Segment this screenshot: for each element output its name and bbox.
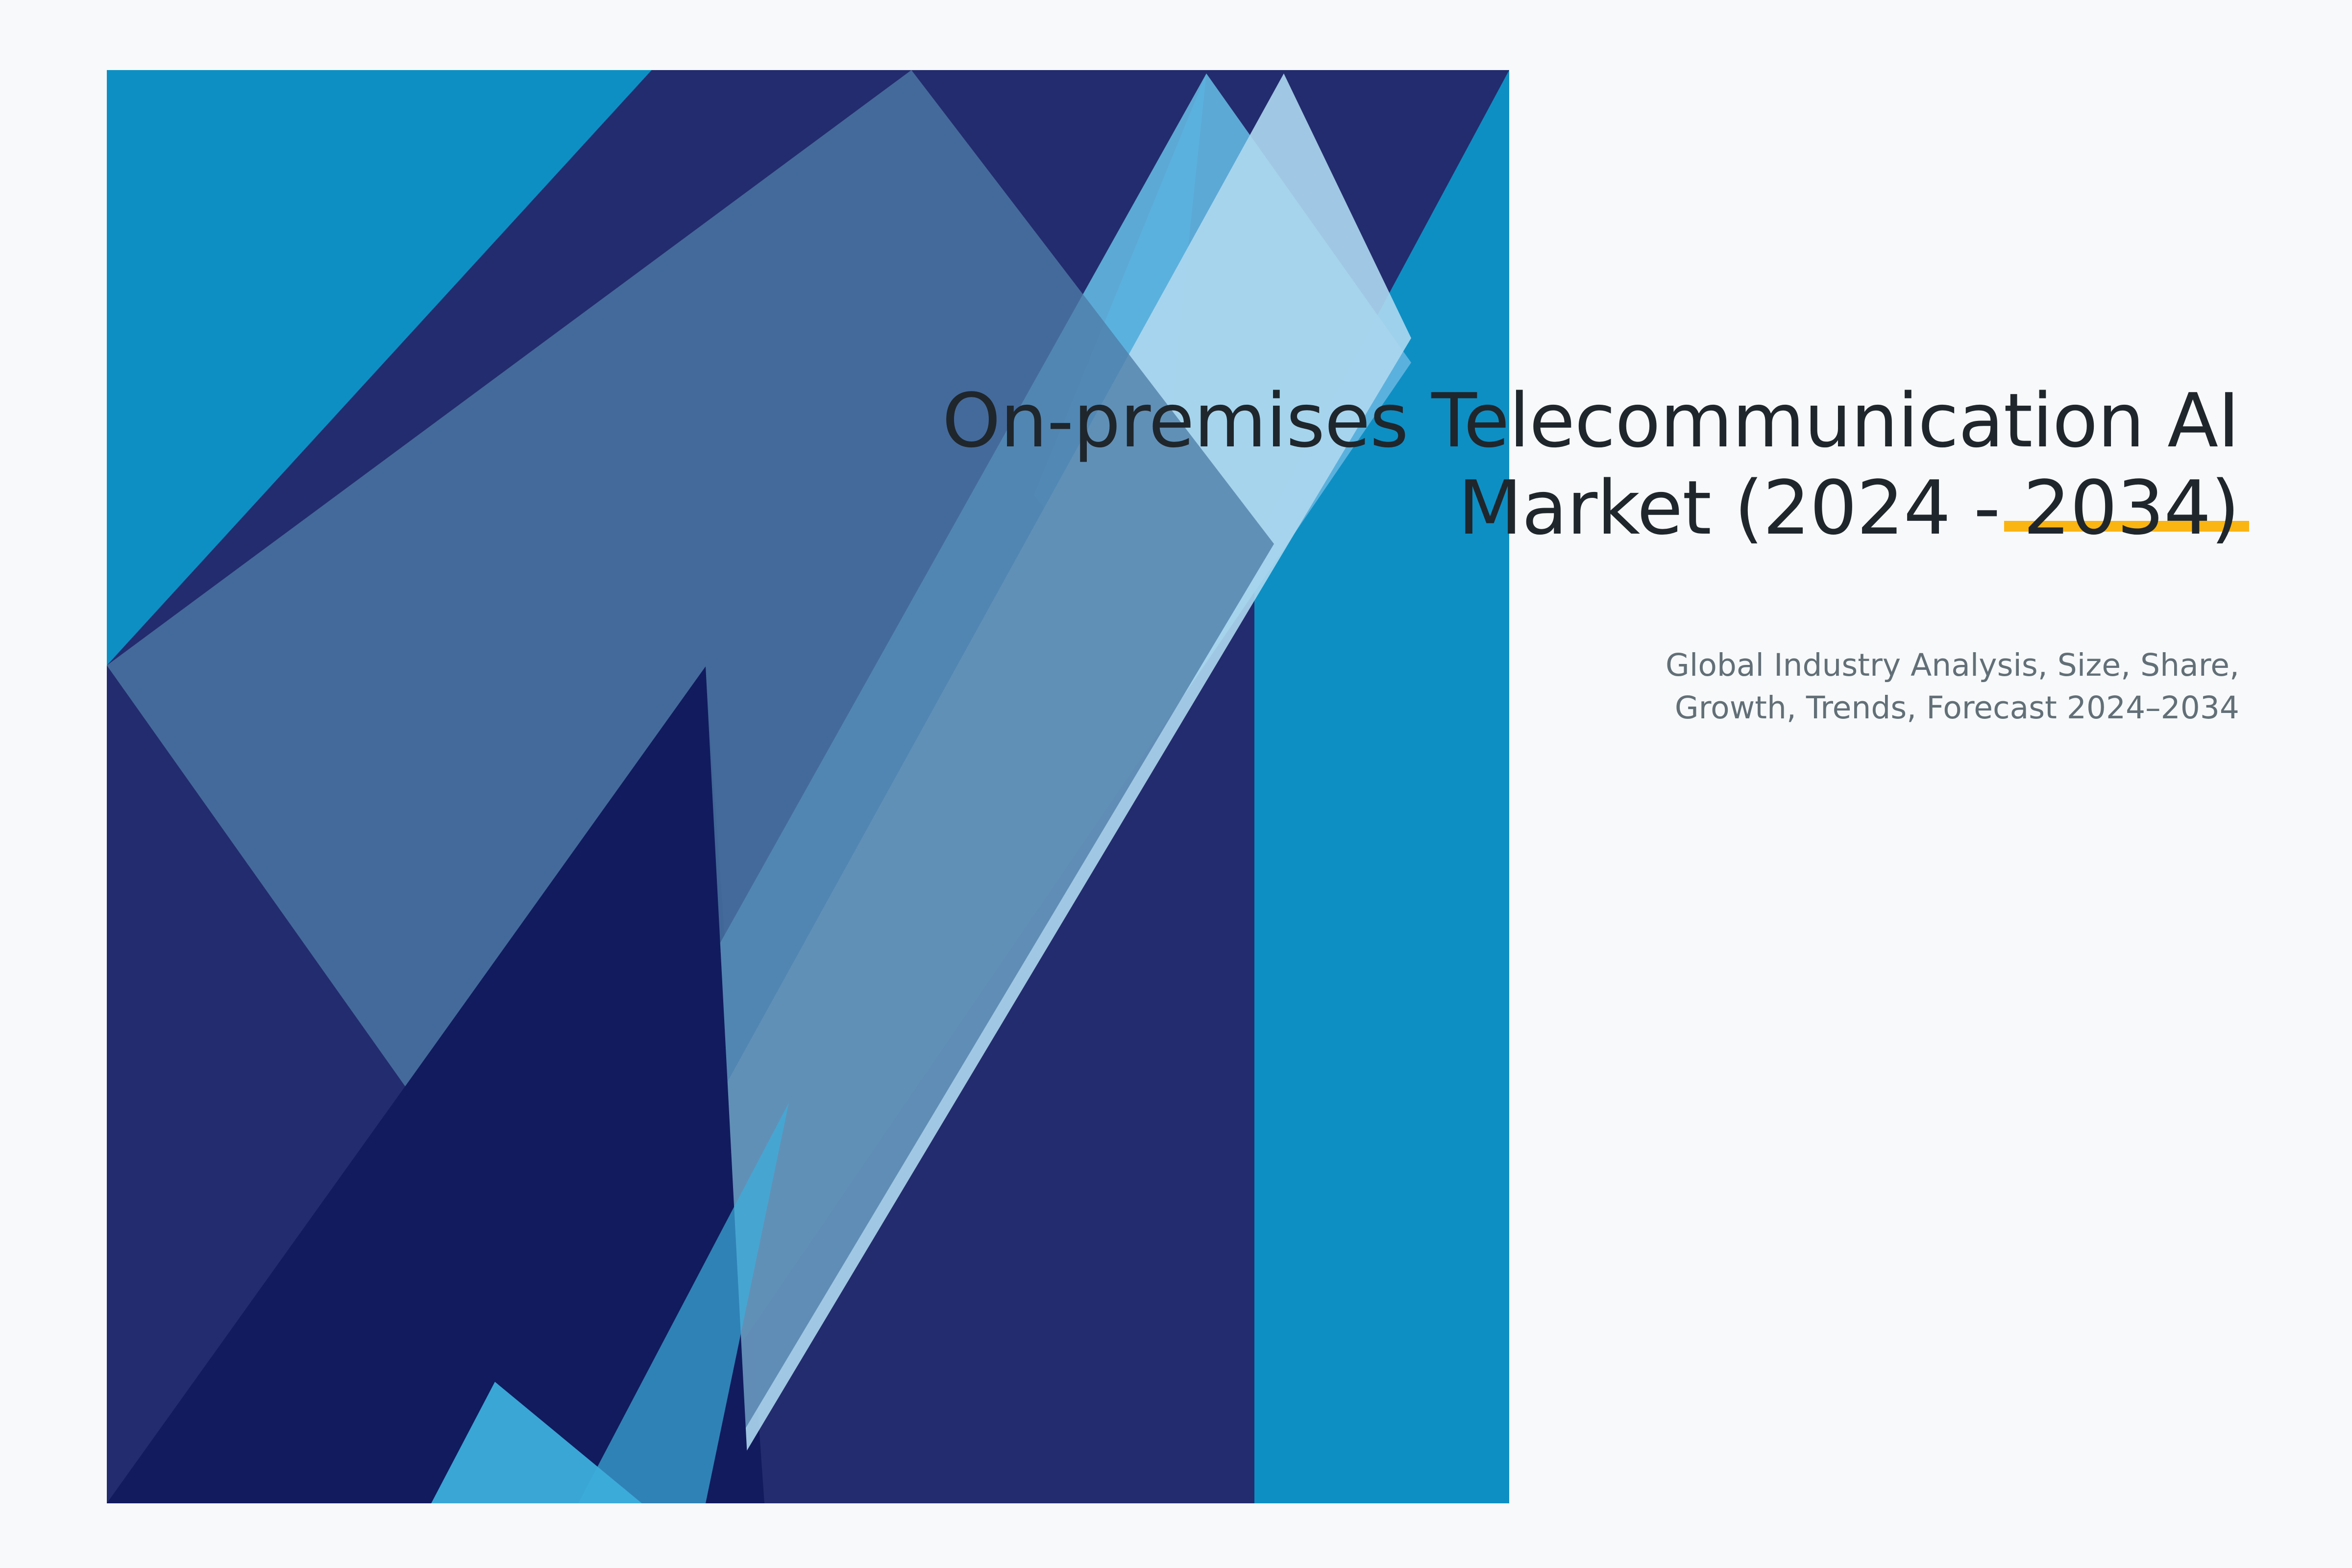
report-cover-page: On-premises Telecommunication AI Market …	[0, 0, 2352, 1568]
cover-text-block: On-premises Telecommunication AI Market …	[902, 377, 2239, 552]
page-title: On-premises Telecommunication AI Market …	[902, 377, 2239, 552]
abstract-geometric-artwork	[0, 0, 2352, 1568]
page-subtitle: Global Industry Analysis, Size, Share, G…	[1274, 644, 2239, 730]
